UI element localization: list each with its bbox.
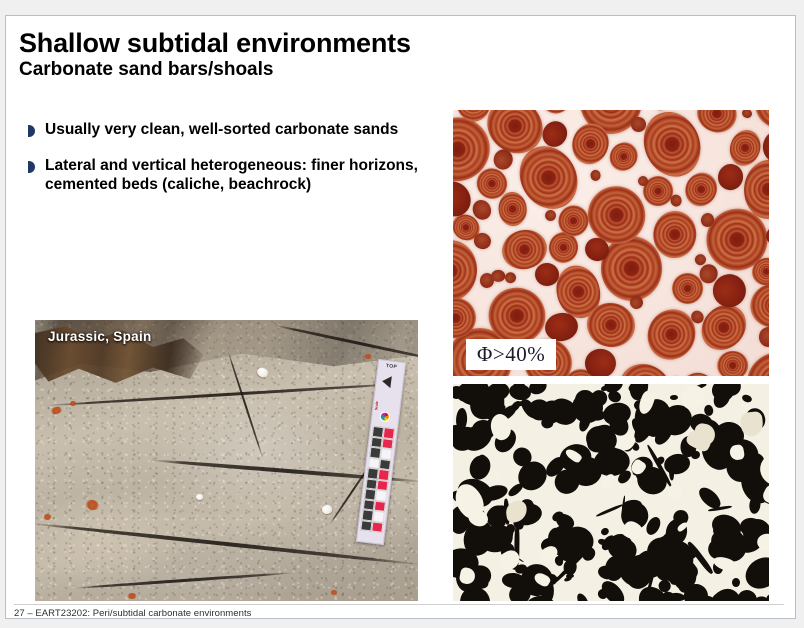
peloid-grain (631, 117, 646, 132)
bullet-list: Usually very clean, well-sorted carbonat… (28, 121, 430, 212)
porosity-label: Φ>40% (466, 339, 556, 370)
slide-canvas: Shallow subtidal environments Carbonate … (5, 15, 796, 619)
carbonate-grain (566, 573, 574, 578)
ooid-grain-micritised (585, 349, 616, 376)
page-title: Shallow subtidal environments (19, 29, 411, 57)
lichen-patch (330, 590, 338, 595)
footer-text: 27 – EART23202: Peri/subtidal carbonate … (14, 608, 251, 619)
peloid-grain (590, 170, 601, 181)
scale-segment (360, 520, 383, 533)
page-subtitle: Carbonate sand bars/shoals (19, 59, 411, 81)
color-wheel-icon (379, 411, 391, 423)
footer-divider (14, 604, 784, 605)
photo-caption: Jurassic, Spain (48, 329, 152, 344)
bullet-marker-icon (28, 125, 35, 137)
bullet-text: Lateral and vertical heterogeneous: fine… (45, 157, 430, 195)
carbonate-grain (670, 394, 678, 399)
ooid-grain (601, 235, 663, 301)
presentation-viewer: Shallow subtidal environments Carbonate … (0, 0, 804, 628)
scale-card-brand-label: Scale (374, 401, 379, 410)
lichen-patch (43, 514, 52, 520)
bullet-text: Usually very clean, well-sorted carbonat… (45, 121, 398, 140)
ooid-thin-section-photo (453, 110, 769, 376)
lichen-patch (127, 593, 137, 599)
list-item: Lateral and vertical heterogeneous: fine… (28, 157, 430, 195)
list-item: Usually very clean, well-sorted carbonat… (28, 121, 430, 140)
outcrop-photo: TOP Scale Jurassic, Spain (35, 320, 418, 601)
bullet-marker-icon (28, 161, 35, 173)
scale-card-top-label: TOP (378, 362, 405, 371)
up-arrow-icon (381, 375, 391, 388)
lichen-patch (364, 354, 372, 359)
bw-thin-section-photo (453, 384, 769, 601)
title-block: Shallow subtidal environments Carbonate … (19, 29, 411, 81)
skeletal-fragment (501, 390, 504, 416)
ooid-grain (717, 351, 748, 376)
shell-fragment (196, 494, 203, 500)
carbonate-grain (732, 578, 740, 587)
